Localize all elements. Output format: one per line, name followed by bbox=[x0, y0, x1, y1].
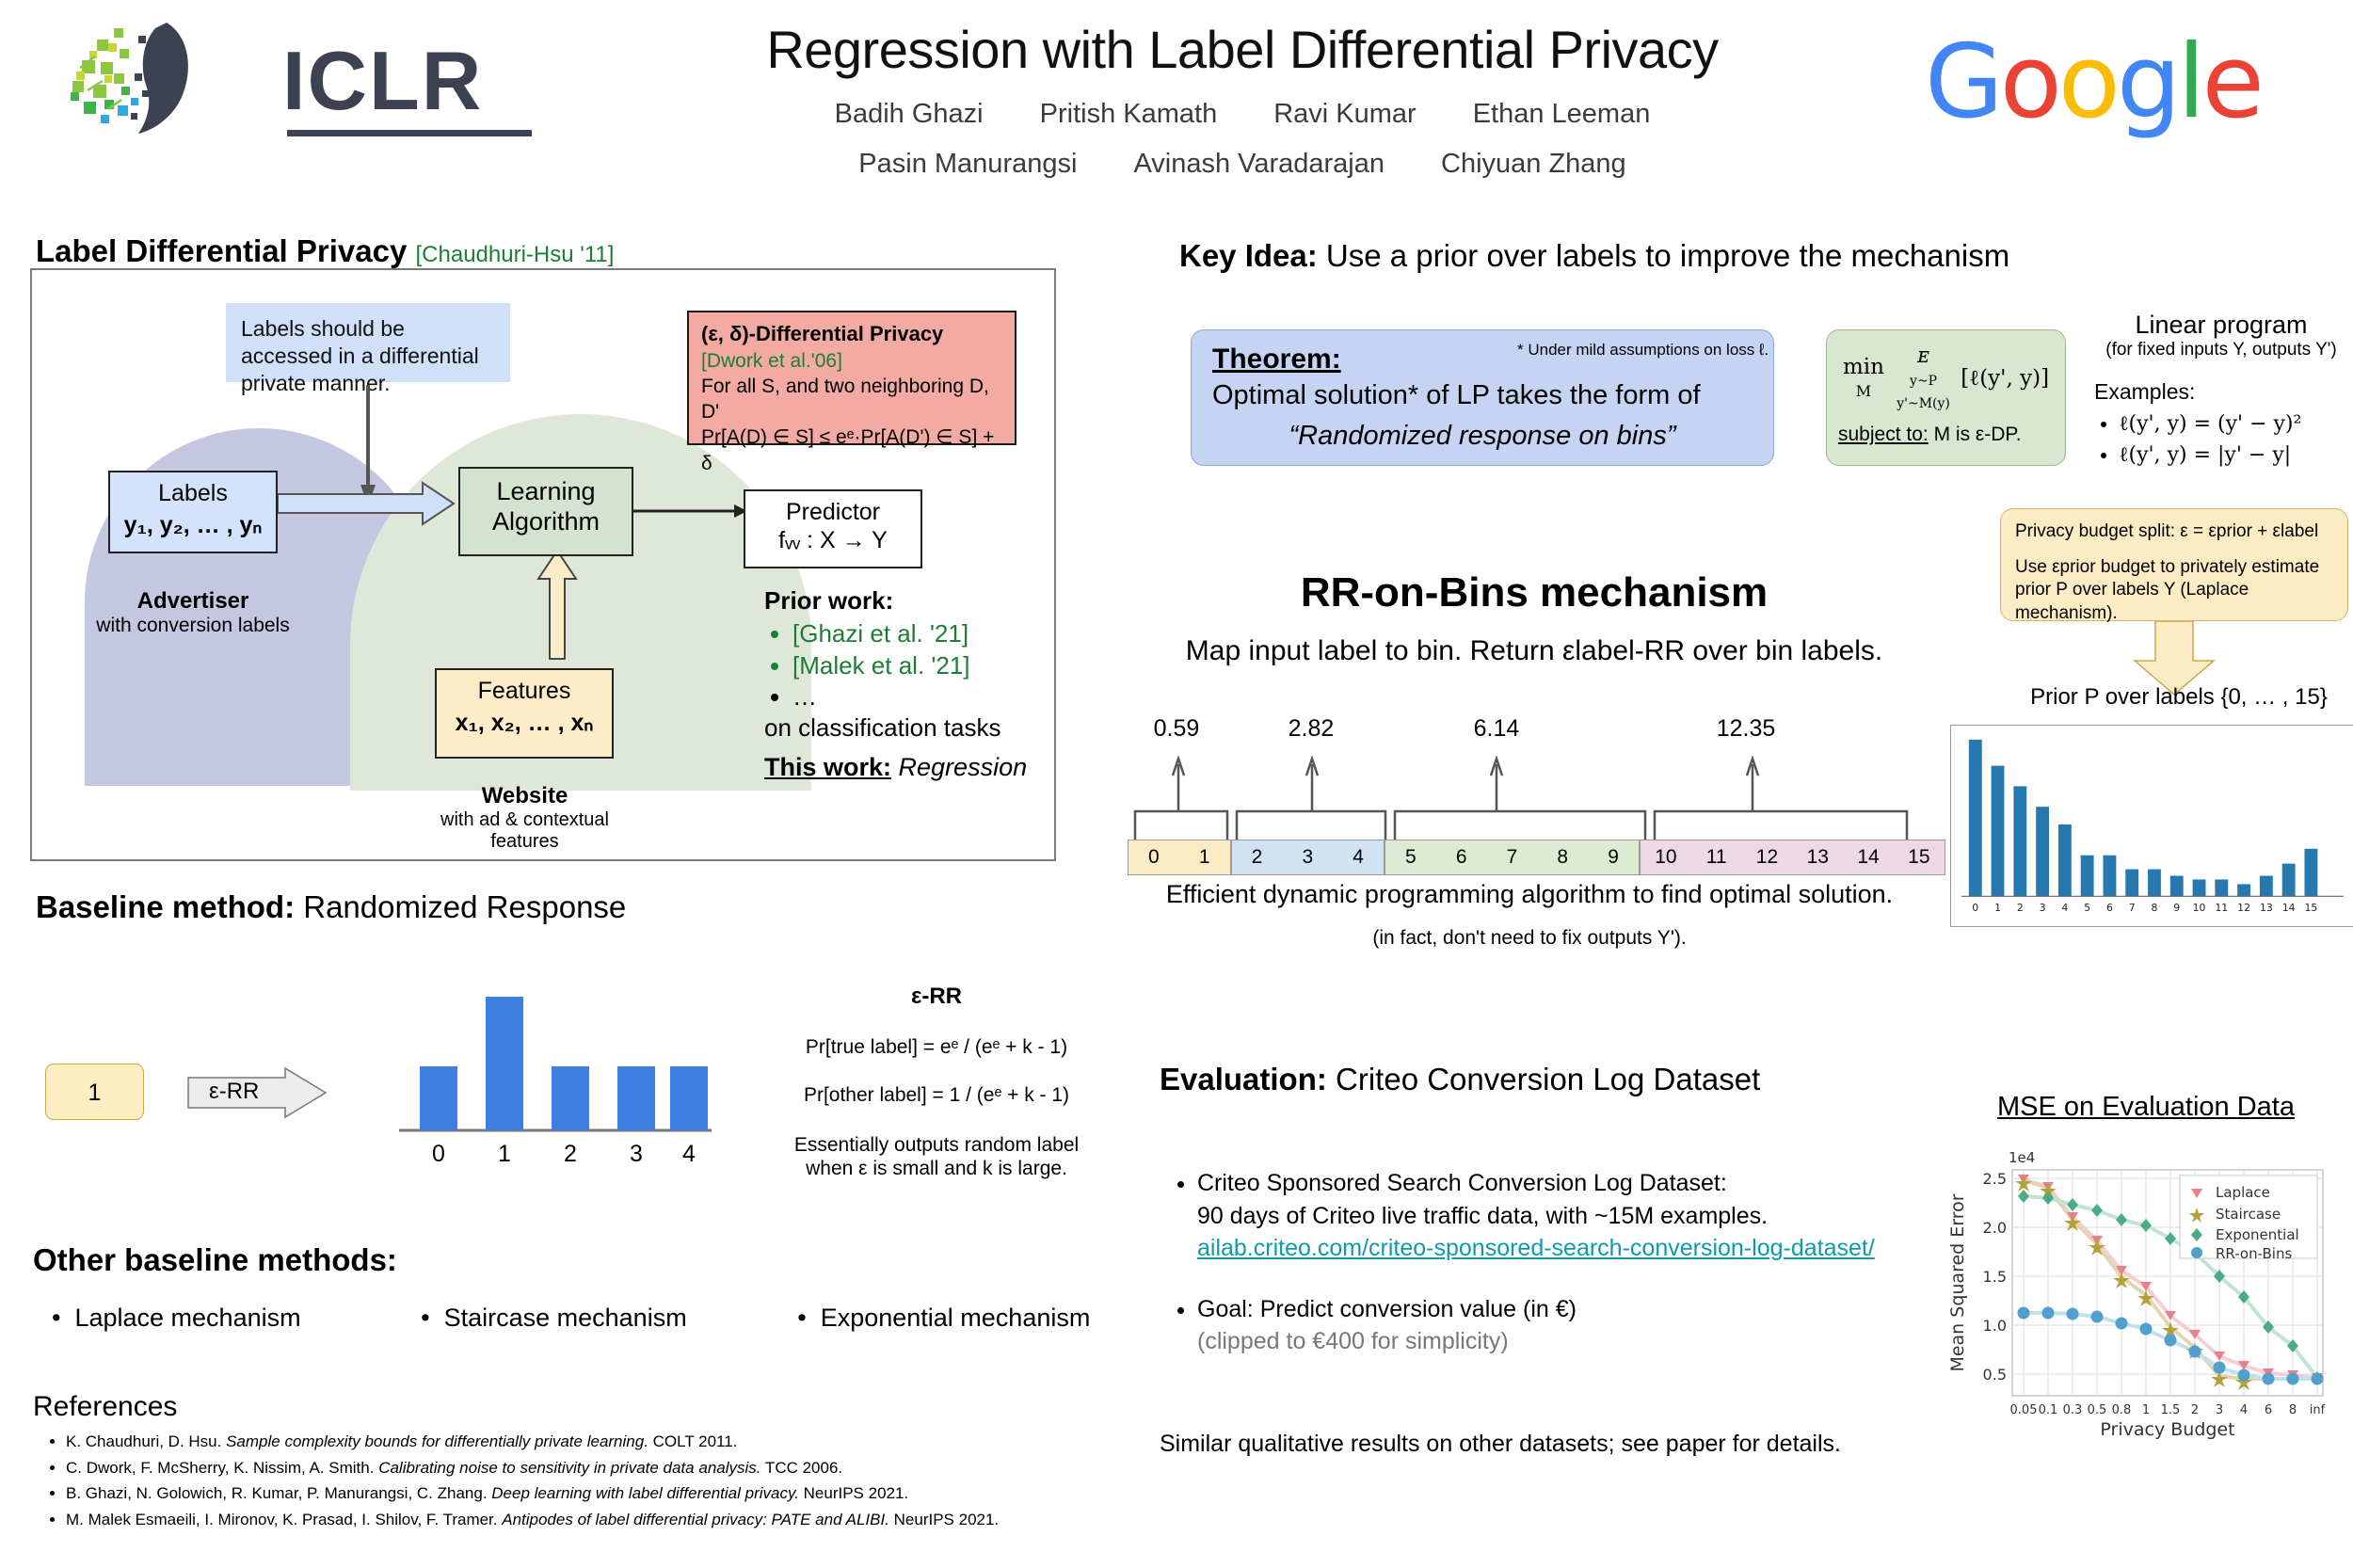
reference-authors: M. Malek Esmaeili, I. Mironov, K. Prasad… bbox=[66, 1511, 502, 1528]
website-name: Website bbox=[428, 783, 621, 809]
rr-xtick: 3 bbox=[617, 1141, 655, 1168]
prior-work-block: Prior work: [Ghazi et al. '21] [Malek et… bbox=[764, 585, 1028, 744]
evaluation-bullet-dataset: Criteo Sponsored Search Conversion Log D… bbox=[1197, 1167, 1911, 1265]
rr-formula-note2: when ε is small and k is large. bbox=[781, 1157, 1092, 1180]
lp-examples-label: Examples: bbox=[2094, 379, 2348, 405]
other-baseline-item: Laplace mechanism bbox=[74, 1304, 300, 1332]
author-row-2: Pasin ManurangsiAvinash VaradarajanChiyu… bbox=[584, 149, 1901, 180]
evaluation-heading: Evaluation: Criteo Conversion Log Datase… bbox=[1160, 1062, 1760, 1097]
svg-text:10: 10 bbox=[2193, 902, 2206, 914]
mse-ytick: 0.5 bbox=[1983, 1366, 2007, 1384]
key-idea-heading: Key Idea: Use a prior over labels to imp… bbox=[1179, 238, 2009, 274]
svg-text:6: 6 bbox=[2106, 902, 2113, 914]
dataset-line2: 90 days of Criteo live traffic data, wit… bbox=[1197, 1200, 1911, 1233]
bin-value-labels: 0.59 2.82 6.14 12.35 bbox=[1120, 715, 1929, 753]
lp-expectation-sub1: y~P bbox=[1910, 374, 1937, 389]
bin-group-3[interactable]: 10 11 12 13 14 15 bbox=[1640, 840, 1945, 875]
evaluation-bullets: Criteo Sponsored Search Conversion Log D… bbox=[1167, 1167, 1911, 1386]
bin-value: 12.35 bbox=[1694, 715, 1798, 743]
website-caption: Website with ad & contextual features bbox=[428, 783, 621, 853]
prior-work-item: [Ghazi et al. '21] bbox=[792, 618, 1028, 649]
privacy-budget-box: Privacy budget split: ε = εprior + εlabe… bbox=[2000, 508, 2348, 621]
reference-item: K. Chaudhuri, D. Hsu. Sample complexity … bbox=[66, 1429, 1133, 1455]
bin-value: 6.14 bbox=[1445, 715, 1548, 743]
svg-text:14: 14 bbox=[2282, 902, 2296, 914]
prior-over-labels-chart: 0123 4567 891011 12131415 bbox=[1950, 725, 2353, 927]
rr-formula-note1: Essentially outputs random label bbox=[781, 1133, 1092, 1157]
this-work-line: This work: Regression bbox=[764, 753, 1027, 782]
evaluation-bullet-goal: Goal: Predict conversion value (in €) (c… bbox=[1197, 1293, 1911, 1358]
lp-objective: [ℓ(y', y)] bbox=[1961, 366, 2049, 391]
other-baselines-list: • Laplace mechanism • Staircase mechanis… bbox=[52, 1304, 1106, 1333]
rr-xtick: 0 bbox=[420, 1141, 457, 1168]
mse-xtick: 0.8 bbox=[2112, 1403, 2132, 1417]
evaluation-heading-rest: Criteo Conversion Log Dataset bbox=[1336, 1062, 1760, 1096]
mse-xtick: 2 bbox=[2191, 1403, 2199, 1417]
reference-item: M. Malek Esmaeili, I. Mironov, K. Prasad… bbox=[66, 1507, 1133, 1533]
author: Badih Ghazi bbox=[835, 99, 984, 130]
reference-title: Calibrating noise to sensitivity in priv… bbox=[378, 1459, 760, 1477]
rr-formula-line2: Pr[other label] = 1 / (eᵉ + k - 1) bbox=[781, 1083, 1092, 1107]
rr-formula-line1: Pr[true label] = eᵉ / (eᵉ + k - 1) bbox=[781, 1035, 1092, 1059]
author: Avinash Varadarajan bbox=[1133, 149, 1385, 180]
bin-group-2[interactable]: 5 6 7 8 9 bbox=[1385, 840, 1640, 875]
svg-text:7: 7 bbox=[2129, 902, 2136, 914]
iclr-underline bbox=[287, 130, 532, 136]
svg-text:5: 5 bbox=[2084, 902, 2090, 914]
mse-xtick: 6 bbox=[2265, 1403, 2272, 1417]
bin-value: 2.82 bbox=[1259, 715, 1363, 743]
author: Chiyuan Zhang bbox=[1441, 149, 1626, 180]
rr-formula-title: ε-RR bbox=[781, 984, 1092, 1011]
bin-cell: 15 bbox=[1894, 840, 1945, 874]
predictor-title: Predictor bbox=[745, 498, 920, 526]
other-baseline-item: Exponential mechanism bbox=[821, 1304, 1091, 1332]
svg-text:12: 12 bbox=[2237, 902, 2250, 914]
mse-xtick: 1.5 bbox=[2161, 1403, 2181, 1417]
predictor-box: Predictor fᵥᵥ : X → Y bbox=[744, 489, 922, 568]
reference-venue: NeurIPS 2021. bbox=[889, 1511, 999, 1528]
website-subtitle: with ad & contextual features bbox=[428, 809, 621, 853]
reference-authors: B. Ghazi, N. Golowich, R. Kumar, P. Manu… bbox=[66, 1484, 491, 1502]
advertiser-subtitle: with conversion labels bbox=[56, 615, 329, 637]
bin-cell: 1 bbox=[1179, 840, 1230, 874]
mse-ytick: 2.0 bbox=[1983, 1219, 2007, 1237]
privacy-budget-line1: Privacy budget split: ε = εprior + εlabe… bbox=[2015, 520, 2333, 544]
iclr-logo: ICLR bbox=[52, 19, 522, 136]
lp-examples-list: ℓ(y', y) = (y' − y)² ℓ(y', y) = |y' − y| bbox=[2094, 408, 2348, 471]
reference-authors: K. Chaudhuri, D. Hsu. bbox=[66, 1432, 226, 1450]
mse-xtick: 0.05 bbox=[2010, 1403, 2038, 1417]
lp-expectation-op: ᴇ bbox=[1917, 344, 1929, 368]
reference-title: Antipodes of label differential privacy:… bbox=[502, 1511, 889, 1528]
other-baselines-heading: Other baseline methods: bbox=[33, 1242, 397, 1278]
prior-work-tail: on classification tasks bbox=[764, 712, 1028, 744]
legend-label-rr-on-bins: RR-on-Bins bbox=[2216, 1245, 2292, 1262]
bin-cell: 3 bbox=[1282, 840, 1333, 874]
mse-xlabel: Privacy Budget bbox=[2100, 1419, 2234, 1440]
evaluation-closing-note: Similar qualitative results on other dat… bbox=[1160, 1431, 1841, 1458]
lp-min-op: min bbox=[1843, 355, 1884, 379]
reference-item: C. Dwork, F. McSherry, K. Nissim, A. Smi… bbox=[66, 1455, 1133, 1481]
rr-formula-block: ε-RR Pr[true label] = eᵉ / (eᵉ + k - 1) … bbox=[781, 984, 1092, 1181]
bin-cell: 11 bbox=[1691, 840, 1742, 874]
prior-work-list: [Ghazi et al. '21] [Malek et al. '21] … bbox=[764, 618, 1028, 712]
bin-cell: 8 bbox=[1537, 840, 1588, 874]
goal-line2: (clipped to €400 for simplicity) bbox=[1197, 1325, 1911, 1358]
predictor-subtitle: fᵥᵥ : X → Y bbox=[745, 526, 920, 554]
lp-constraint-value: M is ε-DP. bbox=[1934, 424, 2022, 445]
reference-authors: C. Dwork, F. McSherry, K. Nissim, A. Smi… bbox=[66, 1459, 378, 1477]
google-logo: Google bbox=[1925, 24, 2261, 141]
bin-brackets bbox=[1120, 751, 1929, 841]
author: Pritish Kamath bbox=[1040, 99, 1218, 130]
prior-chart-caption: Prior P over labels {0, … , 15} bbox=[2014, 684, 2344, 711]
reference-venue: NeurIPS 2021. bbox=[799, 1484, 908, 1502]
poster-header: ICLR Regression with Label Differential … bbox=[0, 0, 2353, 212]
iclr-brain-icon bbox=[52, 19, 231, 136]
baseline-heading-rest: Randomized Response bbox=[303, 889, 626, 924]
legend-label-laplace: Laplace bbox=[2216, 1184, 2270, 1201]
features-box-title: Features bbox=[437, 678, 612, 705]
mse-xtick: 1 bbox=[2142, 1403, 2150, 1417]
mse-ytick: 1.0 bbox=[1983, 1317, 2007, 1335]
dataset-line1: Criteo Sponsored Search Conversion Log D… bbox=[1197, 1167, 1911, 1200]
bin-cell: 10 bbox=[1641, 840, 1691, 874]
bin-group-0[interactable]: 0 1 bbox=[1128, 840, 1231, 875]
author: Ravi Kumar bbox=[1273, 99, 1417, 130]
labels-box: Labels y₁, y₂, … , yₙ bbox=[108, 471, 278, 553]
google-letter-g1: G bbox=[1925, 24, 2000, 141]
label-dp-citation: [Chaudhuri-Hsu '11] bbox=[416, 242, 615, 267]
mse-legend: Laplace Staircase Exponential RR-on-Bins bbox=[2180, 1176, 2317, 1262]
dp-algorithm-subnote: (in fact, don't need to fix outputs Y'). bbox=[1120, 927, 1939, 950]
prior-work-item: [Malek et al. '21] bbox=[792, 650, 1028, 681]
mse-y-exponent: 1e4 bbox=[2009, 1149, 2035, 1166]
bin-cell: 4 bbox=[1333, 840, 1384, 874]
key-idea-heading-rest: Use a prior over labels to improve the m… bbox=[1326, 238, 2009, 273]
svg-text:9: 9 bbox=[2173, 902, 2180, 914]
svg-text:15: 15 bbox=[2304, 902, 2317, 914]
bin-cell: 6 bbox=[1436, 840, 1487, 874]
svg-text:0: 0 bbox=[1972, 902, 1978, 914]
rr-arrow-label: ε-RR bbox=[209, 1079, 259, 1105]
svg-text:3: 3 bbox=[2040, 902, 2046, 914]
bin-cell: 5 bbox=[1385, 840, 1436, 874]
author: Pasin Manurangsi bbox=[858, 149, 1077, 180]
mse-ylabel: Mean Squared Error bbox=[1947, 1193, 1968, 1371]
key-idea-heading-bold: Key Idea: bbox=[1179, 238, 1318, 273]
bin-cell: 9 bbox=[1588, 840, 1639, 874]
mse-xtick: 0.3 bbox=[2063, 1403, 2083, 1417]
rr-output-histogram bbox=[395, 984, 715, 1134]
bin-cell: 7 bbox=[1487, 840, 1538, 874]
baseline-heading-bold: Baseline method: bbox=[36, 889, 295, 924]
lp-expectation-sub2: y'~M(y) bbox=[1897, 396, 1950, 411]
page-title: Regression with Label Differential Priva… bbox=[584, 19, 1901, 80]
mse-ytick: 1.5 bbox=[1983, 1268, 2007, 1286]
mse-xtick: 0.5 bbox=[2088, 1403, 2107, 1417]
svg-text:8: 8 bbox=[2152, 902, 2158, 914]
google-letter-e: e bbox=[2201, 24, 2260, 141]
google-letter-o2: o bbox=[2058, 24, 2117, 141]
this-work-label: This work: bbox=[764, 753, 891, 781]
advertiser-name: Advertiser bbox=[56, 588, 329, 615]
lp-objective-box: min M ᴇ y~P y'~M(y) [ℓ(y', y)] subject t… bbox=[1826, 329, 2066, 466]
features-box-subtitle: x₁, x₂, … , xₙ bbox=[437, 709, 612, 737]
privacy-budget-line2: Use εprior budget to privately estimate … bbox=[2015, 556, 2333, 626]
lp-min-subscript: M bbox=[1856, 382, 1871, 400]
prior-work-heading: Prior work: bbox=[764, 585, 1028, 616]
rr-xtick: 2 bbox=[552, 1141, 589, 1168]
other-baseline-item: Staircase mechanism bbox=[444, 1304, 687, 1332]
mse-xtick: inf bbox=[2310, 1403, 2326, 1417]
reference-title: Deep learning with label differential pr… bbox=[491, 1484, 799, 1502]
bin-group-1[interactable]: 2 3 4 bbox=[1231, 840, 1385, 875]
rr-xtick: 4 bbox=[670, 1141, 708, 1168]
label-dp-heading-text: Label Differential Privacy bbox=[36, 233, 407, 268]
mse-xtick: 3 bbox=[2216, 1403, 2223, 1417]
rr-on-bins-title: RR-on-Bins mechanism bbox=[1129, 569, 1939, 616]
lp-constraint-label: subject to: bbox=[1838, 424, 1929, 445]
rr-input-label: 1 bbox=[45, 1064, 144, 1120]
lp-example-item: ℓ(y', y) = |y' − y| bbox=[2119, 440, 2348, 471]
labels-box-title: Labels bbox=[110, 480, 276, 507]
mse-xtick: 0.1 bbox=[2039, 1403, 2058, 1417]
advertiser-caption: Advertiser with conversion labels bbox=[56, 588, 329, 637]
author-row-1: Badih GhaziPritish KamathRavi KumarEthan… bbox=[584, 99, 1901, 130]
reference-venue: COLT 2011. bbox=[648, 1432, 738, 1450]
learning-algorithm-box: Learning Algorithm bbox=[458, 467, 633, 556]
lp-constraint: subject to: M is ε-DP. bbox=[1838, 424, 2054, 446]
mse-on-evaluation-data-chart: 1e4 2.5 2.0 1.5 1.0 0.5 bbox=[1939, 1125, 2344, 1454]
bin-cell: 13 bbox=[1792, 840, 1843, 874]
features-box: Features x₁, x₂, … , xₙ bbox=[435, 668, 614, 759]
bin-cell: 14 bbox=[1843, 840, 1894, 874]
references-list: K. Chaudhuri, D. Hsu. Sample complexity … bbox=[41, 1429, 1133, 1532]
dp-algorithm-note: Efficient dynamic programming algorithm … bbox=[1120, 880, 1939, 909]
svg-text:2: 2 bbox=[2017, 902, 2024, 914]
legend-label-staircase: Staircase bbox=[2216, 1206, 2281, 1223]
bins-row: 0 1 2 3 4 5 6 7 8 9 10 11 12 13 14 15 bbox=[1128, 840, 1945, 875]
bin-cell: 2 bbox=[1232, 840, 1283, 874]
label-dp-heading: Label Differential Privacy [Chaudhuri-Hs… bbox=[36, 233, 614, 269]
iclr-wordmark: ICLR bbox=[282, 33, 483, 129]
bin-cell: 12 bbox=[1742, 840, 1793, 874]
mse-xtick: 8 bbox=[2289, 1403, 2297, 1417]
google-letter-o1: o bbox=[2000, 24, 2058, 141]
lp-description: Linear program (for fixed inputs Y, outp… bbox=[2094, 311, 2348, 471]
bin-cell: 0 bbox=[1128, 840, 1179, 874]
reference-venue: TCC 2006. bbox=[761, 1459, 843, 1477]
svg-text:11: 11 bbox=[2215, 902, 2228, 914]
dataset-link[interactable]: ailab.criteo.com/criteo-sponsored-search… bbox=[1197, 1235, 1875, 1261]
theorem-quote: “Randomized response on bins” bbox=[1212, 421, 1753, 452]
google-letter-g2: g bbox=[2117, 24, 2178, 141]
reference-title: Sample complexity bounds for differentia… bbox=[226, 1432, 648, 1450]
svg-text:1: 1 bbox=[1994, 902, 2001, 914]
labels-box-subtitle: y₁, y₂, … , yₙ bbox=[110, 511, 276, 539]
legend-label-exponential: Exponential bbox=[2216, 1226, 2299, 1243]
rr-xtick: 1 bbox=[486, 1141, 523, 1168]
mse-ytick: 2.5 bbox=[1983, 1170, 2007, 1188]
reference-item: B. Ghazi, N. Golowich, R. Kumar, P. Manu… bbox=[66, 1480, 1133, 1507]
references-heading: References bbox=[33, 1391, 177, 1423]
lp-example-item: ℓ(y', y) = (y' − y)² bbox=[2119, 408, 2348, 440]
theorem-label: Theorem: bbox=[1212, 344, 1341, 375]
lp-title: Linear program bbox=[2094, 311, 2348, 340]
google-letter-l: l bbox=[2177, 24, 2201, 141]
prior-work-item: … bbox=[792, 681, 1028, 712]
baseline-heading: Baseline method: Randomized Response bbox=[36, 889, 626, 925]
goal-line1: Goal: Predict conversion value (in €) bbox=[1197, 1293, 1911, 1326]
evaluation-heading-bold: Evaluation: bbox=[1160, 1062, 1327, 1096]
this-work-value: Regression bbox=[899, 753, 1028, 781]
author: Ethan Leeman bbox=[1473, 99, 1651, 130]
lp-subtitle: (for fixed inputs Y, outputs Y') bbox=[2094, 340, 2348, 360]
mse-chart-title: MSE on Evaluation Data bbox=[1948, 1092, 2344, 1123]
theorem-footnote: * Under mild assumptions on loss ℓ. bbox=[1517, 341, 1769, 360]
rr-on-bins-subtitle: Map input label to bin. Return εlabel-RR… bbox=[1129, 635, 1939, 667]
bin-value: 0.59 bbox=[1125, 715, 1228, 743]
mse-xtick: 4 bbox=[2240, 1403, 2248, 1417]
bins-diagram: 0.59 2.82 6.14 12.35 0 1 2 3 4 5 6 7 bbox=[1120, 715, 1929, 875]
lp-formula: min M ᴇ y~P y'~M(y) [ℓ(y', y)] bbox=[1838, 344, 2054, 412]
theorem-statement: Optimal solution* of LP takes the form o… bbox=[1212, 380, 1753, 411]
svg-text:4: 4 bbox=[2061, 902, 2068, 914]
svg-text:13: 13 bbox=[2260, 902, 2273, 914]
